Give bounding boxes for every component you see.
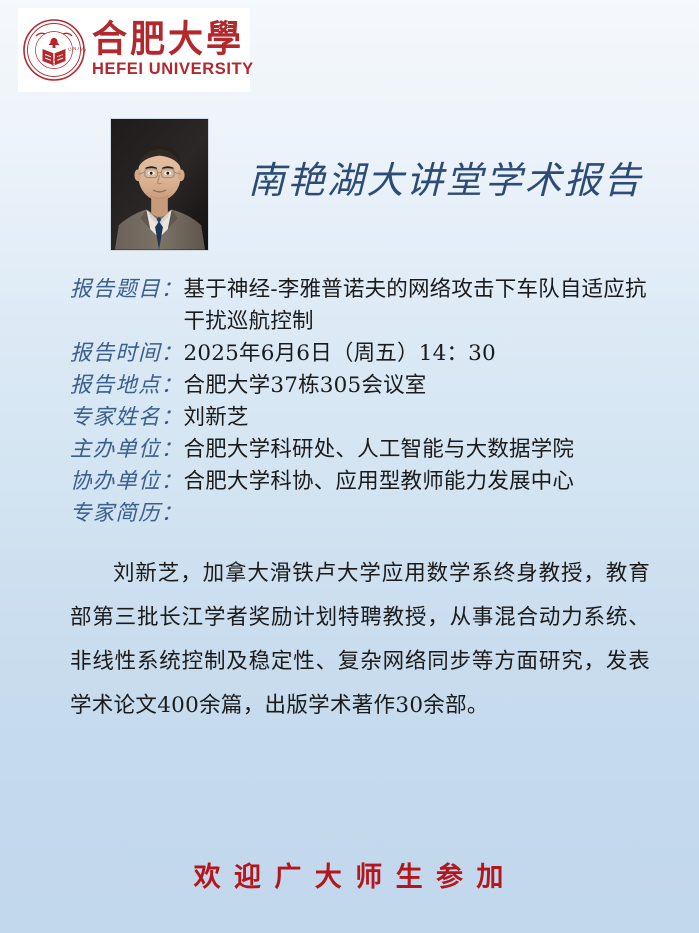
lecture-poster: HEFEI UNIVERSITY 合肥大學 HEFEI UNIVERSITY [0,0,699,933]
info-row-topic: 报告题目： 基于神经-李雅普诺夫的网络攻击下车队自适应抗干扰巡航控制 [70,274,660,338]
event-info-list: 报告题目： 基于神经-李雅普诺夫的网络攻击下车队自适应抗干扰巡航控制 报告时间：… [70,274,660,530]
hero-section: 南艳湖大讲堂学术报告 [0,112,699,257]
info-label: 报告题目： [70,274,184,306]
info-row-speaker: 专家姓名： 刘新芝 [70,402,660,434]
info-label: 专家简历： [70,498,184,530]
university-logo: HEFEI UNIVERSITY 合肥大學 HEFEI UNIVERSITY [18,8,250,92]
logo-name-en: HEFEI UNIVERSITY [92,61,254,78]
logo-wordmark: 合肥大學 HEFEI UNIVERSITY [92,22,254,78]
info-value: 2025年6月6日（周五）14：30 [184,338,660,370]
info-label: 报告时间： [70,338,184,370]
info-row-location: 报告地点： 合肥大学37栋305会议室 [70,370,660,402]
info-value: 合肥大学科协、应用型教师能力发展中心 [184,466,660,498]
info-value: 合肥大学科研处、人工智能与大数据学院 [184,434,660,466]
info-value: 基于神经-李雅普诺夫的网络攻击下车队自适应抗干扰巡航控制 [184,274,654,338]
info-row-organizer: 主办单位： 合肥大学科研处、人工智能与大数据学院 [70,434,660,466]
university-seal-icon: HEFEI UNIVERSITY [22,18,86,82]
speaker-biography: 刘新芝，加拿大滑铁卢大学应用数学系终身教授，教育部第三批长江学者奖励计划特聘教授… [70,552,650,728]
info-row-biography-heading: 专家简历： [70,498,660,530]
info-row-time: 报告时间： 2025年6月6日（周五）14：30 [70,338,660,370]
info-label: 协办单位： [70,466,184,498]
info-label: 主办单位： [70,434,184,466]
speaker-portrait [110,118,209,251]
info-row-co-organizer: 协办单位： 合肥大学科协、应用型教师能力发展中心 [70,466,660,498]
logo-name-cn: 合肥大學 [92,21,254,58]
info-label: 报告地点： [70,370,184,402]
welcome-message: 欢 迎 广 大 师 生 参 加 [194,855,506,894]
info-value: 刘新芝 [184,402,660,434]
footer: 欢 迎 广 大 师 生 参 加 [0,855,699,894]
info-value: 合肥大学37栋305会议室 [184,370,660,402]
info-label: 专家姓名： [70,402,184,434]
page-title: 南艳湖大讲堂学术报告 [248,150,643,204]
